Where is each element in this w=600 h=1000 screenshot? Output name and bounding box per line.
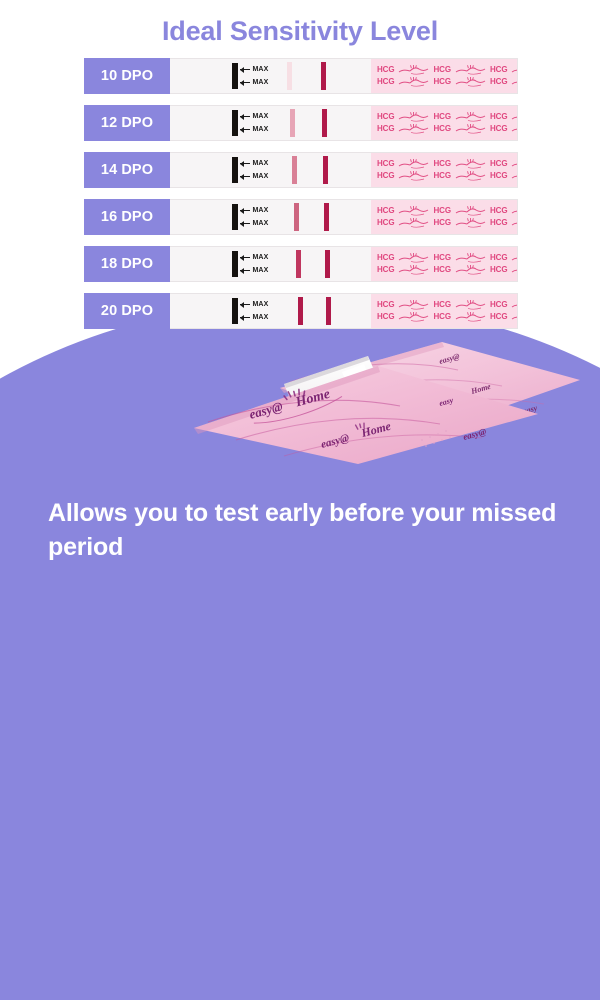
- strip-row: 14 DPOHCGHCGHCGHCGHCGHCGMAXMAX: [84, 152, 518, 188]
- test-strip: HCGHCGHCGHCGHCGHCGMAXMAX: [170, 199, 518, 235]
- hcg-text: HCG: [377, 207, 394, 215]
- easy-at-home-script-icon: [398, 206, 429, 216]
- hcg-text: HCG: [490, 160, 507, 168]
- hcg-text: HCG: [490, 66, 507, 74]
- max-label-text: MAX: [253, 220, 269, 227]
- test-strip: HCGHCGHCGHCGHCGHCGMAXMAX: [170, 293, 518, 329]
- hcg-line: HCGHCGHCG: [377, 171, 517, 182]
- max-label-text: MAX: [253, 126, 269, 133]
- control-line: [325, 250, 330, 278]
- max-marker-top: MAX: [240, 207, 268, 214]
- hcg-text: HCG: [490, 113, 507, 121]
- sensitivity-strip-table: 10 DPOHCGHCGHCGHCGHCGHCGMAXMAX12 DPOHCGH…: [84, 58, 518, 340]
- arrow-left-icon: [240, 304, 250, 306]
- easy-at-home-script-icon: [455, 112, 486, 122]
- hcg-line: HCGHCGHCG: [377, 265, 517, 276]
- hcg-text: HCG: [490, 301, 507, 309]
- dpo-label: 20 DPO: [84, 293, 170, 329]
- max-marker-top: MAX: [240, 301, 268, 308]
- easy-at-home-script-icon: [455, 159, 486, 169]
- max-label-text: MAX: [253, 113, 269, 120]
- strip-row: 18 DPOHCGHCGHCGHCGHCGHCGMAXMAX: [84, 246, 518, 282]
- control-line: [321, 62, 326, 90]
- max-marker-top: MAX: [240, 66, 268, 73]
- easy-at-home-script-icon: [511, 206, 518, 216]
- hcg-printed-band: HCGHCGHCGHCGHCGHCG: [371, 247, 517, 281]
- hcg-text: HCG: [377, 266, 394, 274]
- easy-at-home-script-icon: [455, 206, 486, 216]
- max-bar: [232, 157, 238, 183]
- dpo-label: 16 DPO: [84, 199, 170, 235]
- max-bar: [232, 204, 238, 230]
- arrow-left-icon: [240, 223, 250, 225]
- max-label-text: MAX: [253, 267, 269, 274]
- hcg-line: HCGHCGHCG: [377, 206, 517, 217]
- easy-at-home-script-icon: [455, 253, 486, 263]
- easy-at-home-script-icon: [398, 312, 429, 322]
- max-labels: MAXMAX: [240, 204, 268, 230]
- max-bar: [232, 110, 238, 136]
- easy-at-home-script-icon: [398, 159, 429, 169]
- hcg-printed-band: HCGHCGHCGHCGHCGHCG: [371, 153, 517, 187]
- hcg-printed-band: HCGHCGHCGHCGHCGHCG: [371, 106, 517, 140]
- hcg-text: HCG: [490, 125, 507, 133]
- hcg-text: HCG: [433, 125, 450, 133]
- hcg-printed-band: HCGHCGHCGHCGHCGHCG: [371, 59, 517, 93]
- hcg-printed-band: HCGHCGHCGHCGHCGHCG: [371, 200, 517, 234]
- hcg-text: HCG: [433, 78, 450, 86]
- hcg-text: HCG: [490, 254, 507, 262]
- max-marker-top: MAX: [240, 160, 268, 167]
- product-photo-easy-at-home-pouches: easy@Home easy@ Home easy: [172, 336, 592, 466]
- arrow-left-icon: [240, 129, 250, 131]
- easy-at-home-script-icon: [455, 171, 486, 181]
- strip-row: 16 DPOHCGHCGHCGHCGHCGHCGMAXMAX: [84, 199, 518, 235]
- max-marker-bottom: MAX: [240, 126, 268, 133]
- hcg-text: HCG: [377, 172, 394, 180]
- easy-at-home-script-icon: [511, 77, 518, 87]
- dpo-label: 10 DPO: [84, 58, 170, 94]
- easy-at-home-script-icon: [511, 171, 518, 181]
- hcg-line: HCGHCGHCG: [377, 77, 517, 88]
- dpo-label: 18 DPO: [84, 246, 170, 282]
- easy-at-home-script-icon: [511, 312, 518, 322]
- hcg-text: HCG: [490, 172, 507, 180]
- arrow-left-icon: [240, 317, 250, 319]
- easy-at-home-script-icon: [398, 112, 429, 122]
- max-marker-bottom: MAX: [240, 220, 268, 227]
- dpo-label: 14 DPO: [84, 152, 170, 188]
- page-title: Ideal Sensitivity Level: [0, 16, 600, 47]
- easy-at-home-script-icon: [398, 265, 429, 275]
- hcg-text: HCG: [377, 313, 394, 321]
- arrow-left-icon: [240, 69, 250, 71]
- max-marker-top: MAX: [240, 113, 268, 120]
- max-marker-bottom: MAX: [240, 267, 268, 274]
- max-marker-top: MAX: [240, 254, 268, 261]
- hcg-line: HCGHCGHCG: [377, 300, 517, 311]
- test-line: [292, 156, 297, 184]
- arrow-left-icon: [240, 163, 250, 165]
- hcg-line: HCGHCGHCG: [377, 112, 517, 123]
- hcg-line: HCGHCGHCG: [377, 124, 517, 135]
- easy-at-home-script-icon: [455, 65, 486, 75]
- test-strip: HCGHCGHCGHCGHCGHCGMAXMAX: [170, 105, 518, 141]
- hcg-line: HCGHCGHCG: [377, 312, 517, 323]
- hcg-text: HCG: [433, 66, 450, 74]
- hcg-text: HCG: [377, 219, 394, 227]
- strip-row: 10 DPOHCGHCGHCGHCGHCGHCGMAXMAX: [84, 58, 518, 94]
- hcg-text: HCG: [377, 78, 394, 86]
- max-label-text: MAX: [253, 207, 269, 214]
- hcg-text: HCG: [377, 301, 394, 309]
- arrow-left-icon: [240, 176, 250, 178]
- easy-at-home-script-icon: [398, 300, 429, 310]
- arrow-left-icon: [240, 210, 250, 212]
- max-labels: MAXMAX: [240, 110, 268, 136]
- max-labels: MAXMAX: [240, 251, 268, 277]
- test-line: [287, 62, 292, 90]
- easy-at-home-script-icon: [398, 218, 429, 228]
- hcg-text: HCG: [377, 160, 394, 168]
- easy-at-home-script-icon: [511, 124, 518, 134]
- easy-at-home-script-icon: [511, 218, 518, 228]
- hcg-text: HCG: [490, 266, 507, 274]
- easy-at-home-script-icon: [398, 253, 429, 263]
- hcg-text: HCG: [433, 172, 450, 180]
- control-line: [324, 203, 329, 231]
- max-marker-bottom: MAX: [240, 79, 268, 86]
- max-label-text: MAX: [253, 254, 269, 261]
- hcg-text: HCG: [490, 207, 507, 215]
- hcg-text: HCG: [433, 254, 450, 262]
- arrow-left-icon: [240, 270, 250, 272]
- max-labels: MAXMAX: [240, 157, 268, 183]
- hcg-printed-band: HCGHCGHCGHCGHCGHCG: [371, 294, 517, 328]
- test-line: [294, 203, 299, 231]
- test-line: [298, 297, 303, 325]
- easy-at-home-script-icon: [511, 159, 518, 169]
- hcg-text: HCG: [377, 66, 394, 74]
- hcg-text: HCG: [433, 207, 450, 215]
- strip-row: 12 DPOHCGHCGHCGHCGHCGHCGMAXMAX: [84, 105, 518, 141]
- max-bar: [232, 251, 238, 277]
- easy-at-home-script-icon: [511, 300, 518, 310]
- dpo-label: 12 DPO: [84, 105, 170, 141]
- test-strip: HCGHCGHCGHCGHCGHCGMAXMAX: [170, 152, 518, 188]
- max-label-text: MAX: [253, 173, 269, 180]
- easy-at-home-script-icon: [398, 65, 429, 75]
- bottom-caption: Allows you to test early before your mis…: [48, 497, 568, 564]
- max-labels: MAXMAX: [240, 63, 268, 89]
- hcg-text: HCG: [377, 254, 394, 262]
- max-label-text: MAX: [253, 160, 269, 167]
- strip-row: 20 DPOHCGHCGHCGHCGHCGHCGMAXMAX: [84, 293, 518, 329]
- hcg-text: HCG: [433, 113, 450, 121]
- arrow-left-icon: [240, 82, 250, 84]
- easy-at-home-script-icon: [455, 265, 486, 275]
- hcg-text: HCG: [377, 125, 394, 133]
- hcg-text: HCG: [433, 219, 450, 227]
- max-bar: [232, 63, 238, 89]
- easy-at-home-script-icon: [455, 77, 486, 87]
- easy-at-home-script-icon: [511, 253, 518, 263]
- arrow-left-icon: [240, 257, 250, 259]
- easy-at-home-script-icon: [511, 265, 518, 275]
- hcg-text: HCG: [433, 301, 450, 309]
- max-labels: MAXMAX: [240, 298, 268, 324]
- test-strip: HCGHCGHCGHCGHCGHCGMAXMAX: [170, 246, 518, 282]
- hcg-text: HCG: [433, 266, 450, 274]
- test-line: [290, 109, 295, 137]
- max-label-text: MAX: [253, 79, 269, 86]
- hcg-line: HCGHCGHCG: [377, 65, 517, 76]
- max-label-text: MAX: [253, 301, 269, 308]
- hcg-line: HCGHCGHCG: [377, 218, 517, 229]
- max-bar: [232, 298, 238, 324]
- hcg-text: HCG: [490, 219, 507, 227]
- test-strip: HCGHCGHCGHCGHCGHCGMAXMAX: [170, 58, 518, 94]
- easy-at-home-script-icon: [455, 300, 486, 310]
- test-line: [296, 250, 301, 278]
- easy-at-home-script-icon: [398, 124, 429, 134]
- hcg-line: HCGHCGHCG: [377, 159, 517, 170]
- hcg-line: HCGHCGHCG: [377, 253, 517, 264]
- easy-at-home-script-icon: [398, 171, 429, 181]
- control-line: [322, 109, 327, 137]
- max-marker-bottom: MAX: [240, 314, 268, 321]
- max-marker-bottom: MAX: [240, 173, 268, 180]
- easy-at-home-script-icon: [455, 124, 486, 134]
- easy-at-home-script-icon: [511, 112, 518, 122]
- hcg-text: HCG: [490, 313, 507, 321]
- max-label-text: MAX: [253, 66, 269, 73]
- hcg-text: HCG: [490, 78, 507, 86]
- easy-at-home-script-icon: [511, 65, 518, 75]
- easy-at-home-script-icon: [398, 77, 429, 87]
- control-line: [326, 297, 331, 325]
- easy-at-home-script-icon: [455, 218, 486, 228]
- easy-at-home-script-icon: [455, 312, 486, 322]
- hcg-text: HCG: [433, 160, 450, 168]
- hcg-text: HCG: [433, 313, 450, 321]
- arrow-left-icon: [240, 116, 250, 118]
- hcg-text: HCG: [377, 113, 394, 121]
- max-label-text: MAX: [253, 314, 269, 321]
- control-line: [323, 156, 328, 184]
